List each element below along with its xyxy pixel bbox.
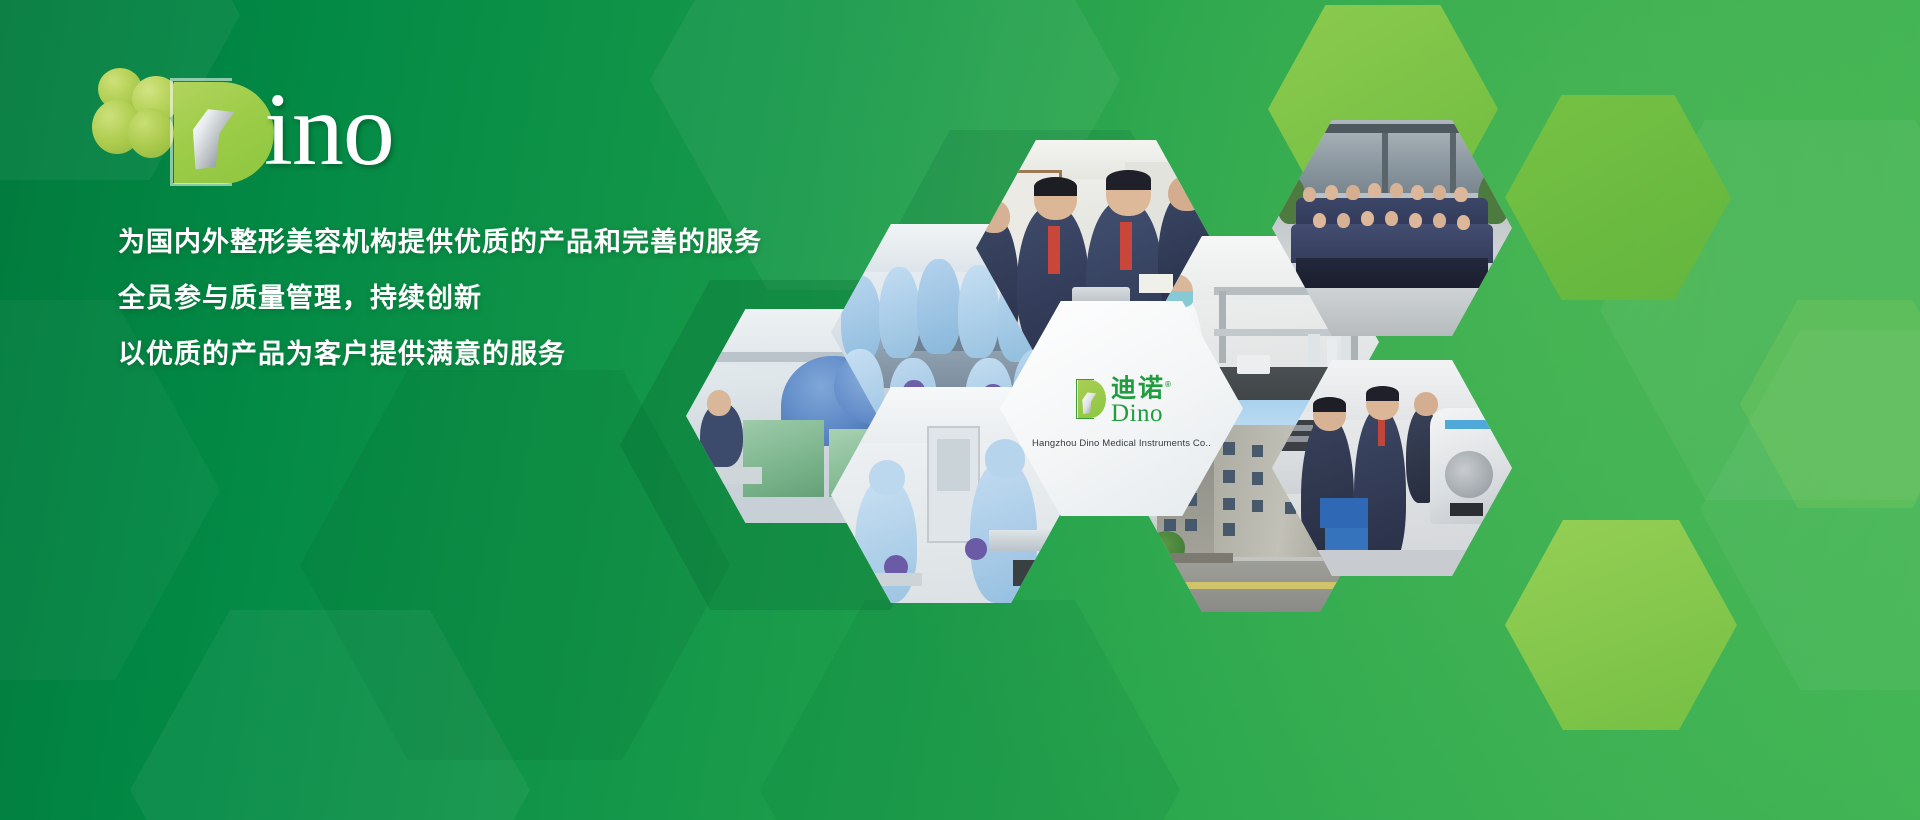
brand-name-en: Dino	[1111, 402, 1173, 426]
leaf-icon-4	[128, 108, 174, 158]
brand-lockup: 迪诺® Dino	[1070, 372, 1173, 426]
slogan-line-3: 以优质的产品为客户提供满意的服务	[118, 326, 762, 382]
hex-deco-lime-bottom	[1505, 520, 1737, 730]
registered-mark: ®	[1165, 380, 1173, 389]
logo-wordmark: ino	[264, 78, 394, 182]
slogan-block: 为国内外整形美容机构提供优质的产品和完善的服务 全员参与质量管理，持续创新 以优…	[118, 214, 762, 382]
dino-logo[interactable]: ino	[88, 66, 428, 186]
company-name-line: Hangzhou Dino Medical Instruments Co..	[1032, 438, 1211, 449]
brand-name-cn: 迪诺®	[1111, 372, 1173, 401]
hex-deco-watermark-bottom-center	[760, 600, 1180, 820]
slogan-line-2: 全员参与质量管理，持续创新	[118, 270, 762, 326]
dino-leaf-d-icon	[1070, 379, 1106, 419]
slogan-line-1: 为国内外整形美容机构提供优质的产品和完善的服务	[118, 214, 762, 270]
hero-banner: 迪诺® Dino Hangzhou Dino Medical Instrumen…	[0, 0, 1920, 820]
